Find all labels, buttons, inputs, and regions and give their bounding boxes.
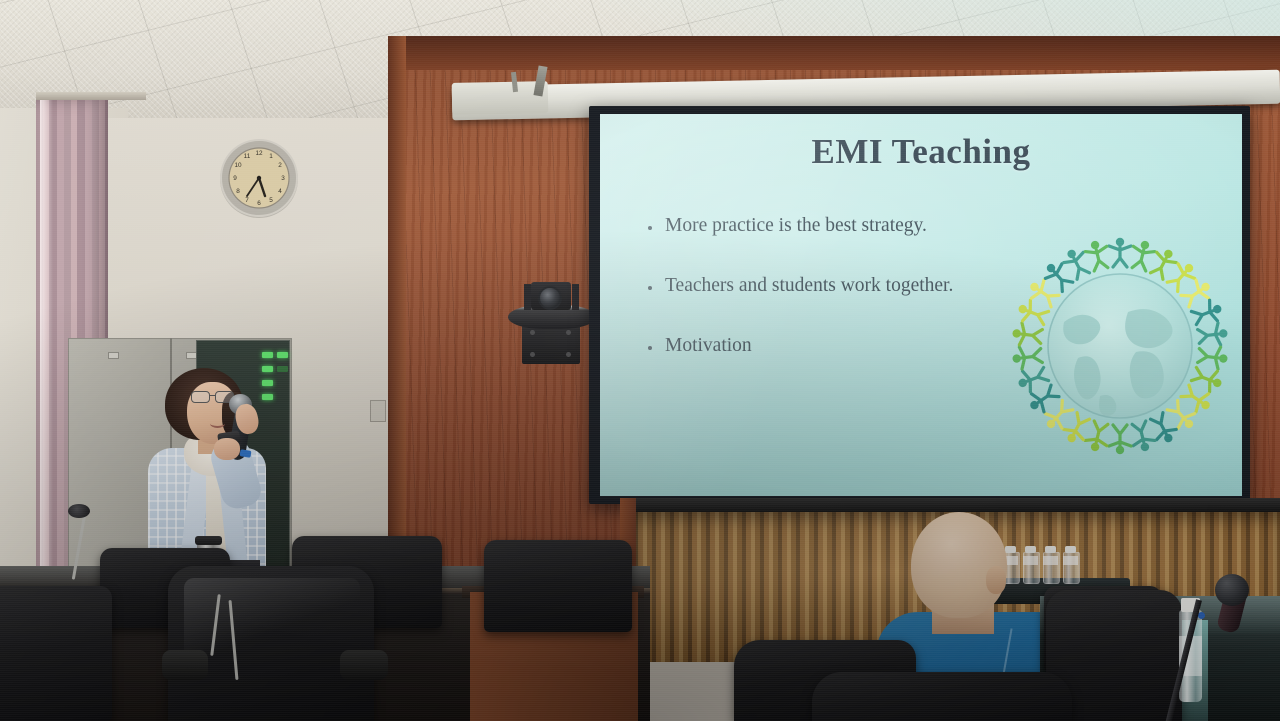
wood-wall-top-shadow (388, 36, 1280, 70)
presenter-smile (210, 419, 225, 428)
bottle-cap (1045, 546, 1056, 553)
bottle-cap (1005, 546, 1016, 553)
screen-vignette (600, 114, 1242, 496)
microphone-grille-icon (1215, 574, 1249, 606)
svg-text:2: 2 (278, 162, 282, 169)
svg-text:6: 6 (257, 200, 261, 207)
camera-arm (572, 284, 579, 310)
svg-text:10: 10 (234, 162, 242, 169)
svg-text:9: 9 (233, 175, 237, 182)
status-led (262, 394, 273, 400)
svg-text:12: 12 (255, 150, 263, 157)
status-led (262, 366, 273, 372)
svg-text:4: 4 (278, 188, 282, 195)
bracket-screw (530, 330, 535, 335)
audience-ear (986, 566, 1006, 594)
svg-text:3: 3 (281, 175, 285, 182)
camera-arm (524, 284, 531, 310)
conference-room-photo: 1212 345 678 91011 EMI Teaching (0, 0, 1280, 721)
wood-wall-left-edge (388, 36, 406, 596)
microphone-boom-rear (68, 504, 90, 518)
status-led (277, 352, 288, 358)
bottle-label (1043, 556, 1058, 565)
projection-screen[interactable]: EMI Teaching More practice is the best s… (600, 114, 1242, 496)
wall-clock: 1212 345 678 91011 (219, 138, 299, 218)
screen-housing-end-cap (452, 81, 549, 115)
bottle-blue-mark (1198, 612, 1205, 619)
svg-text:11: 11 (244, 153, 251, 160)
cabinet-vent (370, 400, 386, 422)
microphone-indicator (240, 449, 252, 458)
screen-ledge (620, 498, 1280, 512)
chair-back-right[interactable] (484, 540, 632, 632)
status-led (262, 380, 273, 386)
presenter-hand-holding-clicker (214, 438, 240, 460)
bottle-label (1023, 556, 1038, 565)
svg-text:7: 7 (245, 197, 249, 204)
chair-armrest (340, 650, 388, 680)
cabinet-latch[interactable] (108, 352, 119, 359)
chair-front-left[interactable] (0, 586, 112, 721)
status-led (262, 352, 273, 358)
bracket-screw (530, 352, 535, 357)
bracket-screw (566, 330, 571, 335)
audience-head (911, 512, 1007, 618)
eyeglasses-bridge (209, 395, 216, 396)
eyeglasses-icon (191, 391, 210, 403)
tumbler-lid (195, 536, 222, 545)
svg-text:8: 8 (236, 188, 240, 195)
bottle-label (1063, 556, 1078, 565)
chair-audience-front[interactable] (812, 672, 1072, 721)
camera-lens-icon (538, 286, 562, 310)
svg-text:1: 1 (269, 153, 273, 160)
bottle-cap (1025, 546, 1036, 553)
chair-highlight (184, 578, 360, 670)
status-led (277, 366, 288, 372)
bracket-screw (566, 352, 571, 357)
svg-text:5: 5 (269, 197, 273, 204)
bottle-cap (1065, 546, 1076, 553)
chair-armrest (162, 650, 208, 680)
curtain-rail (36, 92, 146, 100)
